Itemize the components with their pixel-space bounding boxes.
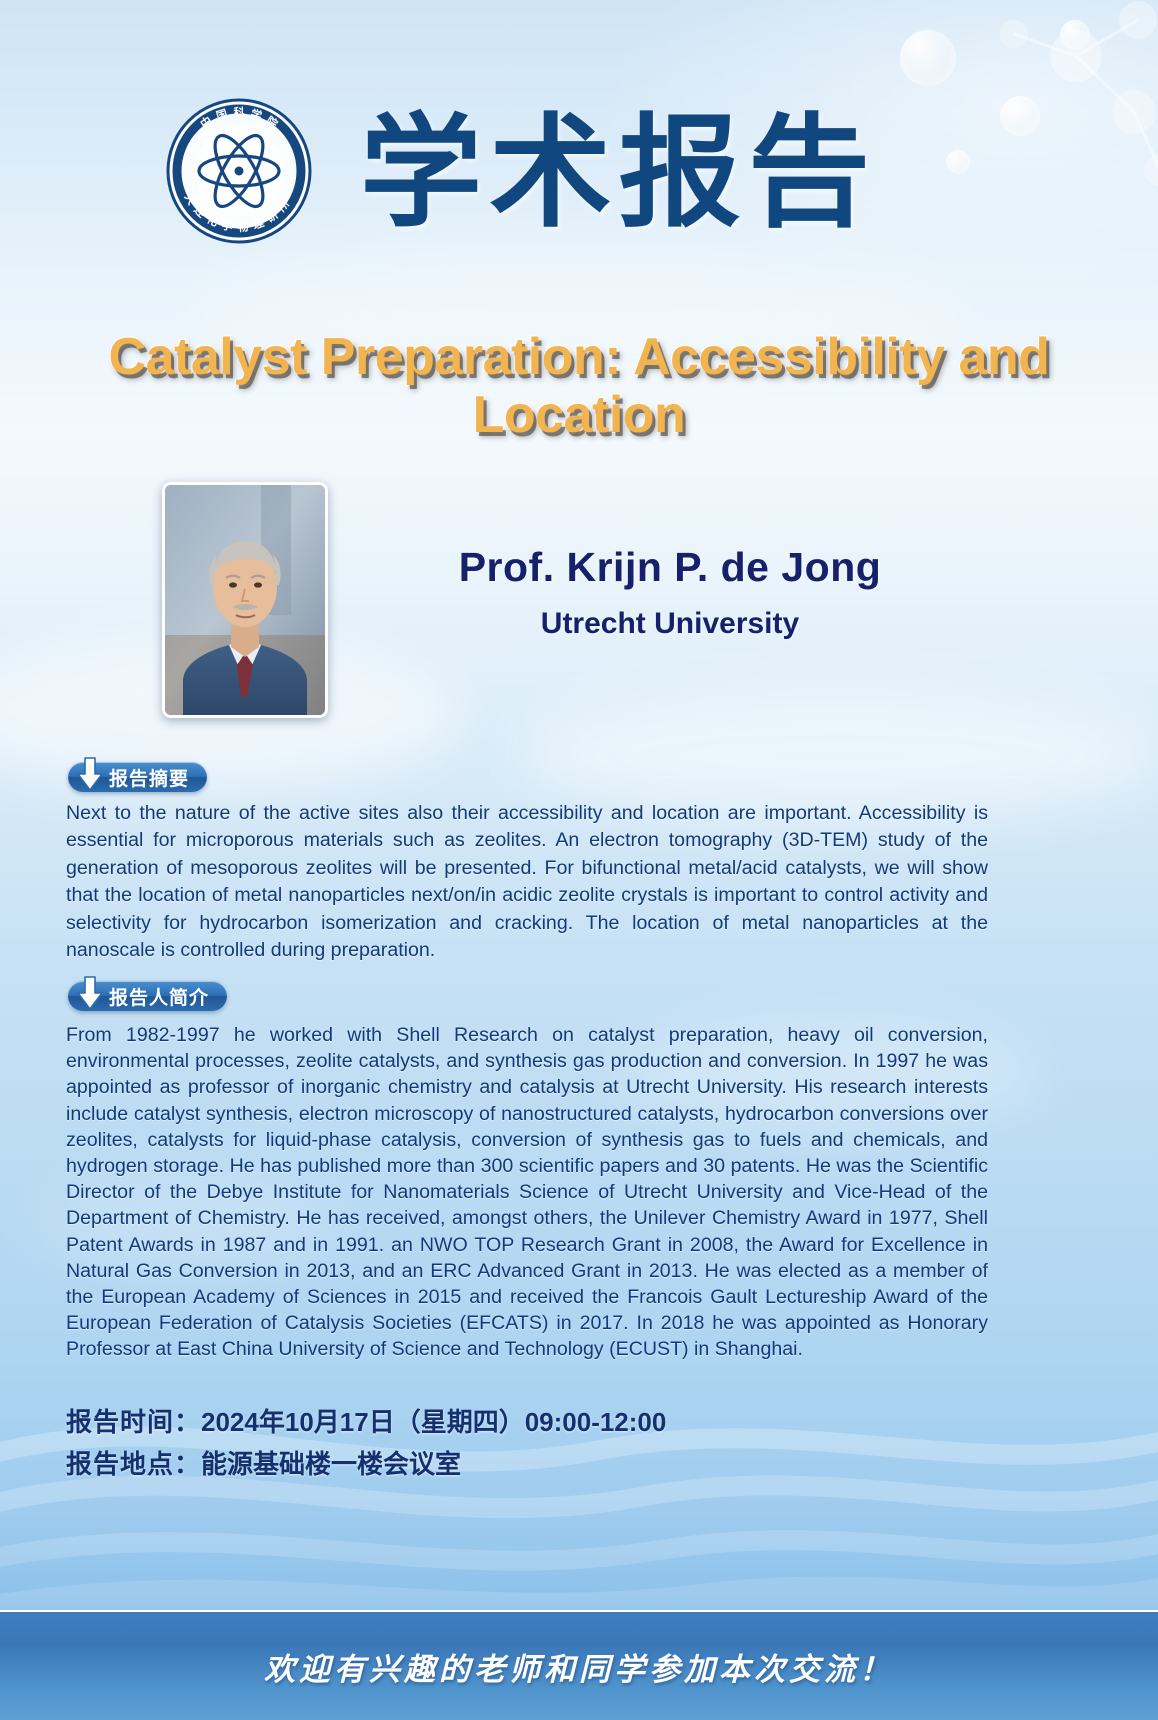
talk-place-label: 报告地点：	[66, 1449, 201, 1479]
speaker-affiliation: Utrecht University	[350, 607, 990, 641]
talk-title: Catalyst Preparation: Accessibility and …	[40, 328, 1118, 444]
section-badge-abstract: 报告摘要	[68, 762, 207, 792]
talk-place-row: 报告地点：能源基础楼一楼会议室	[66, 1444, 461, 1481]
svg-text:物: 物	[237, 219, 249, 234]
down-arrow-icon	[78, 983, 102, 1009]
poster-header: 中 国 科 学 院 大 连 化 学 物 理 研 所 学术报告	[0, 0, 1158, 300]
institute-logo-icon: 中 国 科 学 院 大 连 化 学 物 理 研 所	[164, 96, 314, 246]
svg-text:科: 科	[234, 105, 245, 119]
poster-brush-title: 学术报告	[360, 92, 920, 252]
speaker-portrait	[162, 482, 328, 718]
speaker-block: Prof. Krijn P. de Jong Utrecht Universit…	[0, 482, 1158, 722]
abstract-text: Next to the nature of the active sites a…	[66, 800, 988, 964]
talk-place-value: 能源基础楼一楼会议室	[201, 1449, 461, 1479]
section-badge-abstract-label: 报告摘要	[109, 764, 189, 791]
talk-time-row: 报告时间：2024年10月17日（星期四）09:00-12:00	[66, 1402, 666, 1439]
section-badge-bio: 报告人简介	[68, 981, 227, 1011]
poster-footer: 欢迎有兴趣的老师和同学参加本次交流！	[0, 1610, 1158, 1720]
seminar-poster: 中 国 科 学 院 大 连 化 学 物 理 研 所 学术报告 Catalyst …	[0, 0, 1158, 1720]
talk-time-value: 2024年10月17日（星期四）09:00-12:00	[201, 1407, 666, 1437]
bio-text: From 1982-1997 he worked with Shell Rese…	[66, 1022, 988, 1363]
footer-welcome-text: 欢迎有兴趣的老师和同学参加本次交流！	[264, 1644, 894, 1689]
talk-time-label: 报告时间：	[66, 1407, 201, 1437]
speaker-name: Prof. Krijn P. de Jong	[350, 544, 990, 591]
down-arrow-icon	[78, 764, 102, 790]
section-badge-bio-label: 报告人简介	[109, 983, 209, 1010]
